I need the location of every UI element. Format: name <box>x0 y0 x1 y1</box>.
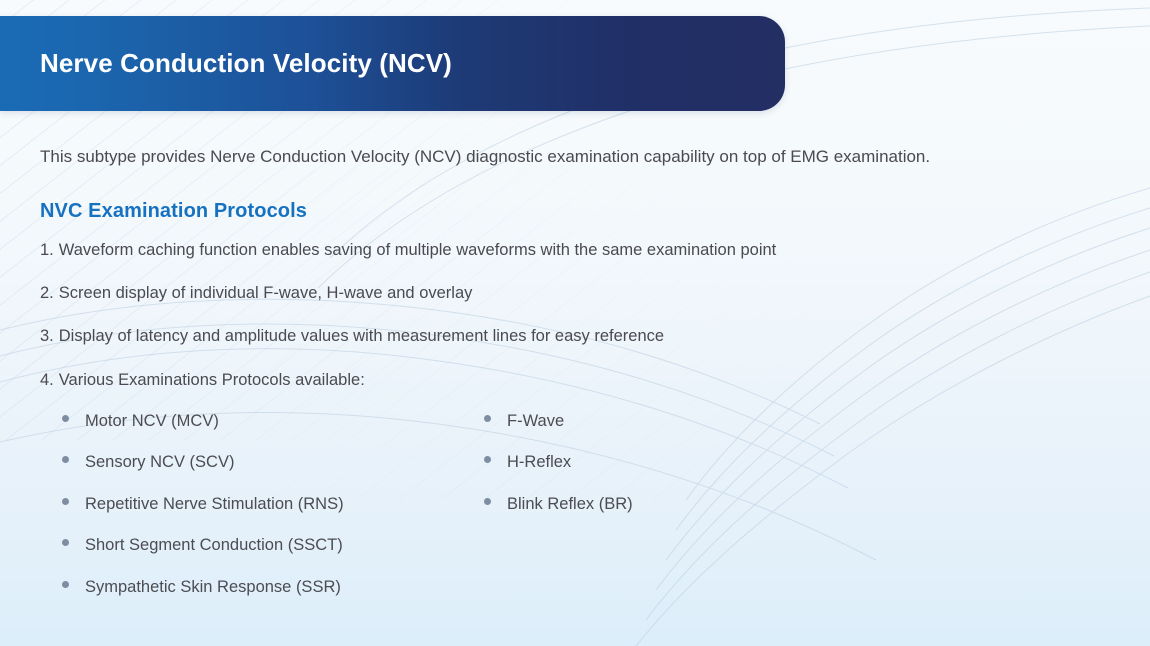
bullet-dot-icon <box>62 415 69 422</box>
protocol-column-right: F-Wave H-Reflex Blink Reflex (BR) <box>462 411 862 598</box>
slide-header-banner: Nerve Conduction Velocity (NCV) <box>0 16 785 111</box>
list-text: Screen display of individual F-wave, H-w… <box>59 282 473 304</box>
numbered-list: 1. Waveform caching function enables sav… <box>40 239 1110 391</box>
protocol-label: H-Reflex <box>507 452 571 473</box>
protocol-label: Blink Reflex (BR) <box>507 494 633 515</box>
bullet-dot-icon <box>484 415 491 422</box>
protocol-list-item: F-Wave <box>484 411 862 432</box>
list-text: Various Examinations Protocols available… <box>59 369 365 391</box>
numbered-list-item: 4. Various Examinations Protocols availa… <box>40 369 1110 391</box>
list-text: Waveform caching function enables saving… <box>59 239 777 261</box>
protocol-list-item: H-Reflex <box>484 452 862 473</box>
bullet-dot-icon <box>62 498 69 505</box>
bullet-dot-icon <box>62 581 69 588</box>
slide-title: Nerve Conduction Velocity (NCV) <box>0 48 452 79</box>
list-number: 1. <box>40 239 54 261</box>
protocol-label: F-Wave <box>507 411 564 432</box>
protocol-column-left: Motor NCV (MCV) Sensory NCV (SCV) Repeti… <box>40 411 462 598</box>
bullet-dot-icon <box>62 539 69 546</box>
protocol-list-item: Sensory NCV (SCV) <box>62 452 462 473</box>
numbered-list-item: 3. Display of latency and amplitude valu… <box>40 325 1110 347</box>
protocol-list-item: Sympathetic Skin Response (SSR) <box>62 577 462 598</box>
protocol-bullet-columns: Motor NCV (MCV) Sensory NCV (SCV) Repeti… <box>40 411 1110 598</box>
protocol-label: Short Segment Conduction (SSCT) <box>85 535 343 556</box>
list-number: 4. <box>40 369 54 391</box>
protocol-list-item: Blink Reflex (BR) <box>484 494 862 515</box>
list-number: 2. <box>40 282 54 304</box>
bullet-dot-icon <box>484 456 491 463</box>
numbered-list-item: 1. Waveform caching function enables sav… <box>40 239 1110 261</box>
protocol-label: Repetitive Nerve Stimulation (RNS) <box>85 494 344 515</box>
section-heading: NVC Examination Protocols <box>40 200 1110 223</box>
bullet-dot-icon <box>62 456 69 463</box>
protocol-label: Sympathetic Skin Response (SSR) <box>85 577 341 598</box>
protocol-list-item: Short Segment Conduction (SSCT) <box>62 535 462 556</box>
intro-paragraph: This subtype provides Nerve Conduction V… <box>40 145 1110 169</box>
list-number: 3. <box>40 325 54 347</box>
numbered-list-item: 2. Screen display of individual F-wave, … <box>40 282 1110 304</box>
protocol-list-item: Motor NCV (MCV) <box>62 411 462 432</box>
slide-content: This subtype provides Nerve Conduction V… <box>40 126 1110 598</box>
protocol-label: Sensory NCV (SCV) <box>85 452 234 473</box>
protocol-label: Motor NCV (MCV) <box>85 411 219 432</box>
list-text: Display of latency and amplitude values … <box>59 325 664 347</box>
bullet-dot-icon <box>484 498 491 505</box>
protocol-list-item: Repetitive Nerve Stimulation (RNS) <box>62 494 462 515</box>
